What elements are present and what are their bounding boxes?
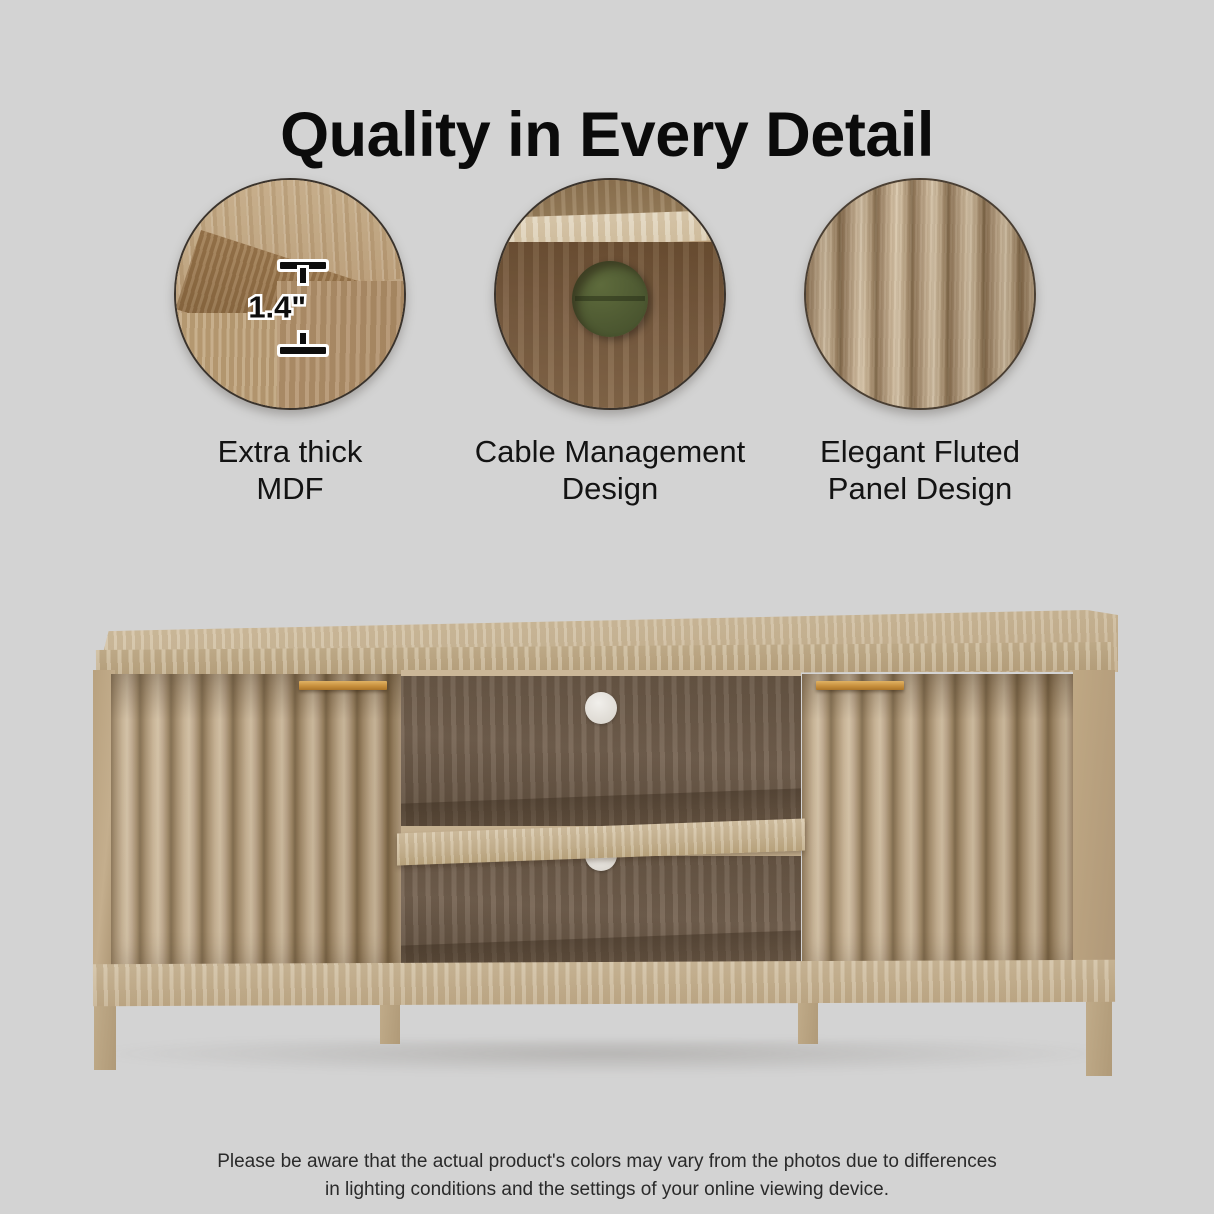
dimension-stem-bottom bbox=[300, 333, 306, 348]
cabinet-door-right[interactable] bbox=[802, 674, 1077, 968]
feature-circle-image-cable bbox=[494, 178, 726, 410]
leg-front-left bbox=[94, 998, 116, 1070]
disclaimer-text: Please be aware that the actual product'… bbox=[0, 1148, 1214, 1203]
feature-caption-line2: MDF bbox=[256, 471, 323, 506]
feature-circle-image-fluted bbox=[804, 178, 1036, 410]
feature-image-wrap-mdf: 1.4" bbox=[174, 178, 406, 410]
feature-caption-line1: Extra thick bbox=[218, 434, 363, 469]
feature-caption-line1: Elegant Fluted bbox=[820, 434, 1020, 469]
feature-caption-line2: Panel Design bbox=[828, 471, 1012, 506]
open-shelf-upper bbox=[401, 676, 801, 826]
feature-fluted-panel: Elegant Fluted Panel Design bbox=[770, 178, 1070, 507]
disclaimer-line1: Please be aware that the actual product'… bbox=[0, 1148, 1214, 1176]
product-photo bbox=[0, 560, 1214, 1090]
leg-center-right bbox=[798, 998, 818, 1044]
feature-extra-thick-mdf: 1.4" Extra thick MDF bbox=[140, 178, 440, 507]
fluted-slats-photo bbox=[806, 180, 1034, 408]
page-title: Quality in Every Detail bbox=[0, 104, 1214, 167]
cabinet-carcass bbox=[93, 670, 1115, 970]
feature-circle-image-mdf: 1.4" bbox=[174, 178, 406, 410]
feature-highlights-row: 1.4" Extra thick MDF Cable Managemen bbox=[0, 178, 1214, 538]
door-handle-left[interactable] bbox=[299, 681, 387, 690]
feature-caption-fluted: Elegant Fluted Panel Design bbox=[770, 434, 1070, 507]
feature-caption-cable: Cable Management Design bbox=[460, 434, 760, 507]
disclaimer-line2: in lighting conditions and the settings … bbox=[0, 1176, 1214, 1204]
feature-caption-mdf: Extra thick MDF bbox=[140, 434, 440, 507]
product-floor-shadow bbox=[100, 1040, 1110, 1074]
open-shelf-section bbox=[401, 670, 801, 970]
cable-grommet-icon bbox=[572, 261, 648, 337]
feature-caption-line2: Design bbox=[562, 471, 659, 506]
base-front-rail bbox=[93, 960, 1115, 1006]
feature-cable-management: Cable Management Design bbox=[460, 178, 760, 507]
door-handle-right[interactable] bbox=[816, 681, 904, 690]
dimension-value-label: 1.4" bbox=[248, 289, 306, 325]
dimension-annotation: 1.4" bbox=[276, 262, 334, 354]
tv-stand-unit bbox=[88, 610, 1118, 1010]
open-shelf-lower bbox=[401, 856, 801, 968]
dimension-stem-top bbox=[300, 268, 306, 283]
leg-front-right bbox=[1086, 998, 1112, 1076]
infographic-page: Quality in Every Detail bbox=[0, 0, 1214, 1214]
feature-image-wrap-fluted bbox=[804, 178, 1036, 410]
feature-image-wrap-cable bbox=[494, 178, 726, 410]
cabinet-door-left[interactable] bbox=[111, 674, 401, 968]
dimension-tick-bottom bbox=[280, 347, 326, 354]
feature-caption-line1: Cable Management bbox=[475, 434, 746, 469]
cable-hole-upper bbox=[585, 692, 617, 724]
cabinet-side-panel-right bbox=[1073, 670, 1115, 970]
